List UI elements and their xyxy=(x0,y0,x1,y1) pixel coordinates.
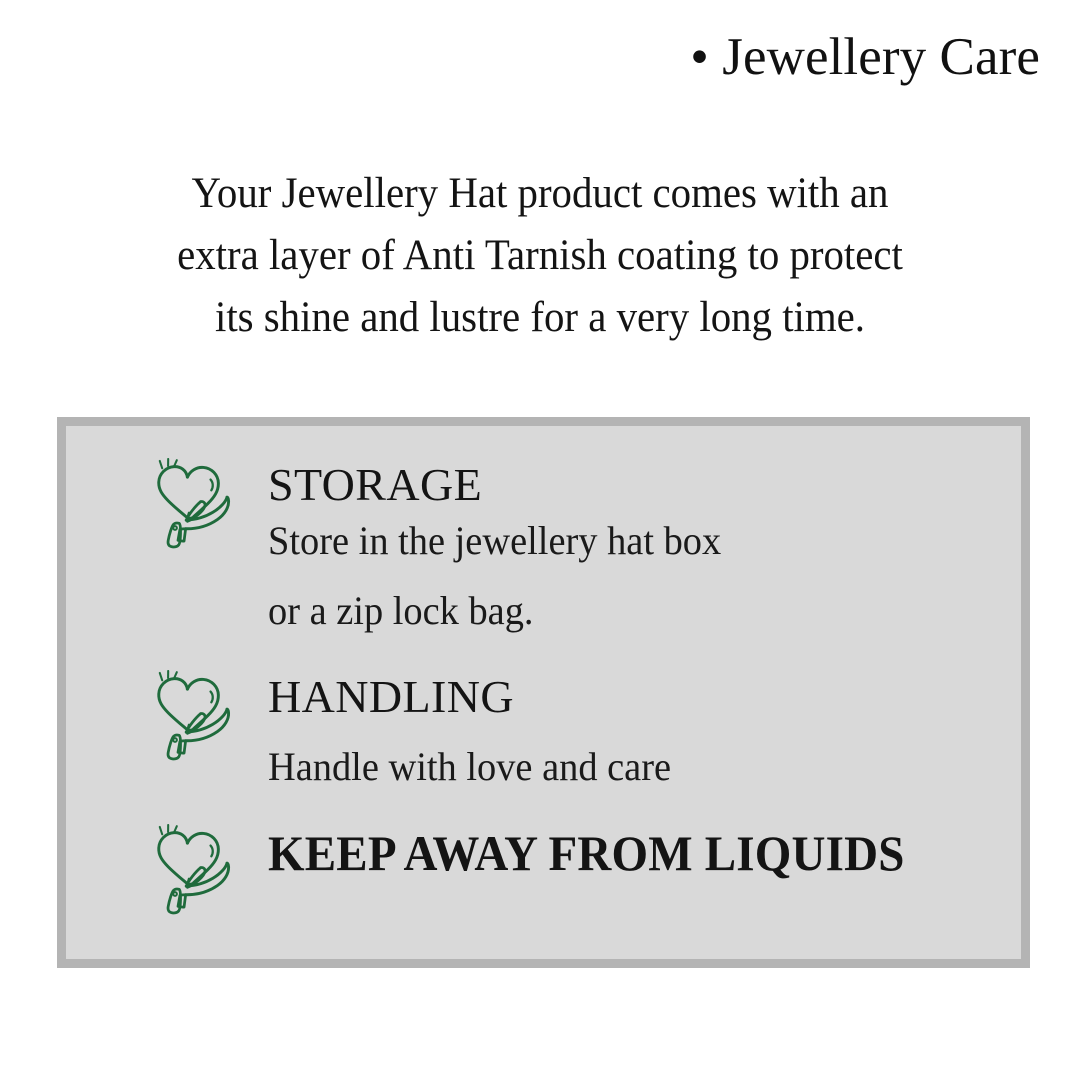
care-item-text: KEEP AWAY FROM LIQUIDS xyxy=(268,822,1003,882)
care-item-text: STORAGE Store in the jewellery hat box o… xyxy=(268,456,1003,640)
care-heading-storage: STORAGE xyxy=(268,458,1003,512)
care-detail-storage-line-2: or a zip lock bag. xyxy=(268,582,974,640)
intro-line-3: its shine and lustre for a very long tim… xyxy=(94,287,987,349)
intro-line-1: Your Jewellery Hat product comes with an xyxy=(94,163,987,225)
care-item-storage: STORAGE Store in the jewellery hat box o… xyxy=(148,456,1003,640)
care-item-handling: HANDLING Handle with love and care xyxy=(148,668,1003,796)
care-instructions-list: STORAGE Store in the jewellery hat box o… xyxy=(66,426,1021,959)
page-title: • Jewellery Care xyxy=(690,28,1040,87)
heart-in-hand-icon xyxy=(148,458,246,556)
care-instructions-panel: STORAGE Store in the jewellery hat box o… xyxy=(57,417,1030,968)
intro-line-2: extra layer of Anti Tarnish coating to p… xyxy=(94,225,987,287)
care-detail-storage-line-1: Store in the jewellery hat box xyxy=(268,512,974,570)
care-heading-handling: HANDLING xyxy=(268,670,1003,724)
heart-in-hand-icon xyxy=(148,824,246,922)
heart-in-hand-icon xyxy=(148,670,246,768)
intro-paragraph: Your Jewellery Hat product comes with an… xyxy=(94,163,987,349)
care-item-text: HANDLING Handle with love and care xyxy=(268,668,1003,796)
care-item-keep-away-from-liquids: KEEP AWAY FROM LIQUIDS xyxy=(148,822,1003,922)
care-heading-keep-away-from-liquids: KEEP AWAY FROM LIQUIDS xyxy=(268,824,959,882)
care-detail-handling-line-1: Handle with love and care xyxy=(268,738,974,796)
